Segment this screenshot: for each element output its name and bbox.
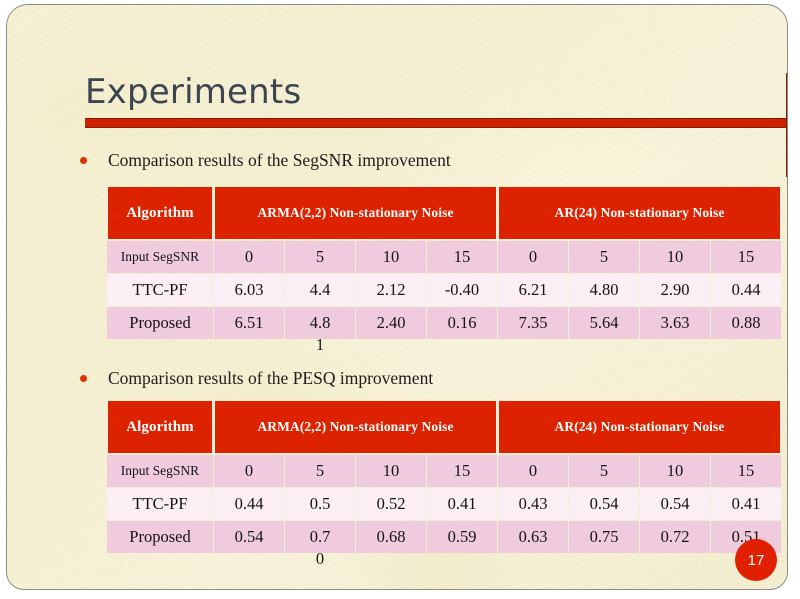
data-cell: 5	[569, 455, 639, 487]
data-cell: 10	[356, 241, 426, 273]
data-cell: 3.63	[640, 307, 710, 339]
data-cell: 10	[640, 241, 710, 273]
data-cell: 15	[427, 455, 497, 487]
data-cell: 5	[285, 455, 355, 487]
table-header-row: AlgorithmARMA(2,2) Non-stationary NoiseA…	[107, 186, 781, 240]
header-cell-algorithm: Algorithm	[107, 400, 213, 454]
data-cell: 15	[427, 241, 497, 273]
header-cell-group-left: ARMA(2,2) Non-stationary Noise	[214, 400, 497, 454]
table-row: Input SegSNR051015051015	[107, 455, 781, 487]
data-cell: 0.41	[711, 488, 781, 520]
page-number-badge: 17	[735, 539, 777, 581]
data-cell: 0.59	[427, 521, 497, 553]
data-cell: 0.88	[711, 307, 781, 339]
data-cell: 0.16	[427, 307, 497, 339]
data-cell: 0.68	[356, 521, 426, 553]
header-cell-group-right: AR(24) Non-stationary Noise	[498, 186, 781, 240]
data-cell: 0.54	[640, 488, 710, 520]
data-cell: 10	[356, 455, 426, 487]
data-cell: 15	[711, 241, 781, 273]
data-cell: 2.12	[356, 274, 426, 306]
data-cell: 0	[498, 455, 568, 487]
data-cell: 0.52	[356, 488, 426, 520]
data-cell: 0.44	[711, 274, 781, 306]
data-cell: 6.03	[214, 274, 284, 306]
data-cell: 0	[498, 241, 568, 273]
data-cell: 0	[214, 455, 284, 487]
data-cell: 7.35	[498, 307, 568, 339]
data-cell-value: 0.7	[310, 527, 331, 546]
segsnr-table: AlgorithmARMA(2,2) Non-stationary NoiseA…	[106, 185, 782, 340]
data-cell: 5	[569, 241, 639, 273]
data-cell: 0.75	[569, 521, 639, 553]
table-row: Input SegSNR051015051015	[107, 241, 781, 273]
data-cell: 0.43	[498, 488, 568, 520]
data-cell: 0.70	[285, 521, 355, 553]
bullet-item-pesq: Comparison results of the PESQ improveme…	[80, 368, 433, 389]
data-cell: 4.81	[285, 307, 355, 339]
data-cell: 5.64	[569, 307, 639, 339]
data-cell: 0	[214, 241, 284, 273]
header-cell-group-left: ARMA(2,2) Non-stationary Noise	[214, 186, 497, 240]
data-cell: 6.51	[214, 307, 284, 339]
data-cell: 0.54	[214, 521, 284, 553]
row-label-cell: TTC-PF	[107, 488, 213, 520]
bullet-item-segsnr: Comparison results of the SegSNR improve…	[80, 150, 451, 171]
bullet-dot-icon	[80, 157, 87, 164]
table-row: Proposed6.514.812.400.167.355.643.630.88	[107, 307, 781, 339]
bullet-dot-icon	[80, 375, 87, 382]
data-cell: 10	[640, 455, 710, 487]
decorative-vertical-bar	[786, 73, 788, 177]
bullet-label: Comparison results of the SegSNR improve…	[108, 150, 451, 171]
row-label-cell: Input SegSNR	[107, 455, 213, 487]
data-cell-overflow-digit: 0	[285, 549, 355, 569]
data-cell: 2.40	[356, 307, 426, 339]
header-cell-group-right: AR(24) Non-stationary Noise	[498, 400, 781, 454]
data-cell: 0.5	[285, 488, 355, 520]
data-cell: 5	[285, 241, 355, 273]
data-cell: 4.4	[285, 274, 355, 306]
table-row: TTC-PF0.440.50.520.410.430.540.540.41	[107, 488, 781, 520]
data-cell: 15	[711, 455, 781, 487]
table-row: Proposed0.540.700.680.590.630.750.720.51	[107, 521, 781, 553]
header-cell-algorithm: Algorithm	[107, 186, 213, 240]
bullet-label: Comparison results of the PESQ improveme…	[108, 368, 433, 389]
data-cell-value: 4.8	[310, 313, 331, 332]
page-title: Experiments	[85, 75, 301, 109]
pesq-table: AlgorithmARMA(2,2) Non-stationary NoiseA…	[106, 399, 782, 554]
data-cell: 4.80	[569, 274, 639, 306]
data-cell: 6.21	[498, 274, 568, 306]
row-label-cell: Input SegSNR	[107, 241, 213, 273]
data-cell: 0.54	[569, 488, 639, 520]
row-label-cell: Proposed	[107, 307, 213, 339]
data-cell: -0.40	[427, 274, 497, 306]
title-underline-rule	[85, 118, 788, 128]
pesq-table-body: AlgorithmARMA(2,2) Non-stationary NoiseA…	[107, 400, 781, 553]
slide-canvas: Experiments Comparison results of the Se…	[6, 4, 788, 590]
data-cell: 0.44	[214, 488, 284, 520]
table-header-row: AlgorithmARMA(2,2) Non-stationary NoiseA…	[107, 400, 781, 454]
row-label-cell: TTC-PF	[107, 274, 213, 306]
data-cell: 0.63	[498, 521, 568, 553]
data-cell: 0.41	[427, 488, 497, 520]
segsnr-table-body: AlgorithmARMA(2,2) Non-stationary NoiseA…	[107, 186, 781, 339]
row-label-cell: Proposed	[107, 521, 213, 553]
table-row: TTC-PF6.034.42.12-0.406.214.802.900.44	[107, 274, 781, 306]
data-cell: 0.72	[640, 521, 710, 553]
data-cell: 2.90	[640, 274, 710, 306]
data-cell-overflow-digit: 1	[285, 335, 355, 355]
